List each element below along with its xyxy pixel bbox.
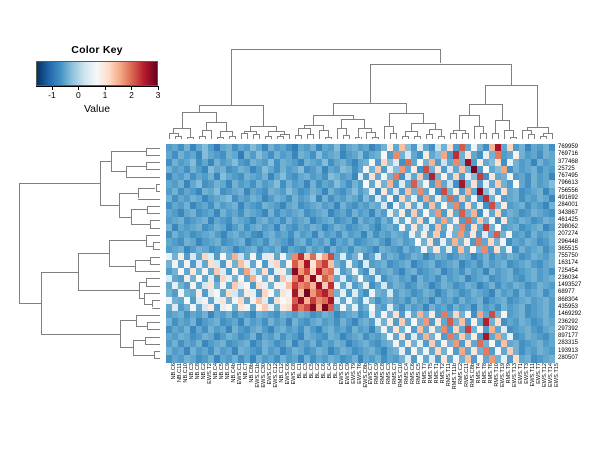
- dendrogram-link: [146, 246, 153, 247]
- dendrogram-link: [154, 358, 160, 359]
- dendrogram-link: [150, 220, 160, 221]
- dendrogram-link: [126, 166, 127, 177]
- column-label: EWS.C2: [267, 363, 273, 384]
- dendrogram-link: [41, 272, 42, 334]
- dendrogram-link: [429, 129, 441, 130]
- dendrogram-link: [259, 134, 260, 139]
- dendrogram-link: [169, 133, 170, 139]
- dendrogram-link: [147, 206, 160, 207]
- dendrogram-link: [178, 133, 179, 136]
- dendrogram-link: [146, 235, 160, 236]
- column-label: BL.C2: [315, 363, 321, 379]
- dendrogram-link: [389, 113, 423, 114]
- dendrogram-link: [19, 183, 20, 303]
- dendrogram-link: [135, 260, 150, 261]
- dendrogram-link: [241, 133, 242, 139]
- dendrogram-link: [298, 128, 310, 129]
- dendrogram-link: [120, 347, 133, 348]
- dendrogram-link: [119, 193, 120, 217]
- row-label: 767495: [558, 173, 578, 180]
- dendrogram-link: [510, 137, 511, 139]
- dendrogram-link: [147, 213, 160, 214]
- column-label: EWS.C30: [261, 363, 267, 388]
- dendrogram-link: [136, 326, 147, 327]
- dendrogram-link: [474, 126, 483, 127]
- dendrogram-link: [268, 131, 269, 136]
- column-labels: NB.C6NB.C11NB.C10NB.C3NB.C8NB.C2EWS.T2NB…: [166, 363, 555, 423]
- dendrogram-link: [301, 135, 302, 139]
- dendrogram-link: [78, 290, 139, 291]
- row-label: 868304: [558, 297, 578, 304]
- dendrogram-link: [120, 320, 137, 321]
- column-label: EWS.C1: [237, 363, 243, 384]
- dendrogram-link: [144, 304, 152, 305]
- column-label: BL.C5: [309, 363, 315, 379]
- column-label: EWS.C12: [273, 363, 279, 388]
- dendrogram-link: [263, 105, 264, 127]
- dendrogram-link: [111, 171, 127, 172]
- dendrogram-link: [331, 137, 332, 139]
- row-label: 343867: [558, 210, 578, 217]
- dendrogram-link: [152, 300, 153, 307]
- color-key: Color Key -10123 Value: [33, 44, 161, 120]
- column-label: BL.C6: [321, 363, 327, 379]
- row-label: 1493527: [558, 282, 581, 289]
- dendrogram-link: [390, 133, 391, 139]
- dendrogram-link: [250, 126, 276, 127]
- dendrogram-link: [136, 315, 160, 316]
- row-label: 365515: [558, 246, 578, 253]
- dendrogram-link: [522, 130, 531, 131]
- column-label: EWS.C8: [291, 363, 297, 384]
- row-label: 897177: [558, 333, 578, 340]
- dendrogram-link: [468, 133, 469, 139]
- dendrogram-link: [138, 188, 139, 199]
- dendrogram-link: [310, 128, 311, 134]
- dendrogram-link: [211, 130, 212, 139]
- row-dendrogram: [12, 144, 162, 362]
- dendrogram-link: [456, 133, 457, 139]
- dendrogram-link: [146, 148, 147, 155]
- dendrogram-link: [492, 133, 493, 139]
- color-key-axis: -10123: [36, 86, 158, 102]
- dendrogram-link: [19, 183, 100, 184]
- heatmap-cell[interactable]: [549, 355, 555, 363]
- dendrogram-link: [133, 340, 145, 341]
- dendrogram-link: [313, 115, 352, 116]
- dendrogram-link: [153, 242, 154, 249]
- dendrogram-link: [223, 137, 224, 139]
- dendrogram-link: [276, 126, 277, 131]
- dendrogram-link: [100, 161, 101, 205]
- dendrogram-link: [206, 122, 207, 130]
- dendrogram-link: [154, 351, 155, 358]
- dendrogram-link: [337, 128, 346, 129]
- dendrogram-link: [41, 334, 120, 335]
- dendrogram-link: [147, 322, 148, 329]
- dendrogram-link: [126, 166, 146, 167]
- dendrogram-link: [244, 131, 245, 133]
- dendrogram-link: [78, 253, 109, 254]
- dendrogram-link: [247, 133, 248, 139]
- column-label: BL.C8: [333, 363, 339, 379]
- color-key-value-label: Value: [33, 103, 161, 115]
- dendrogram-link: [187, 137, 188, 139]
- dendrogram-link: [495, 120, 508, 121]
- dendrogram-link: [231, 49, 441, 50]
- dendrogram-link: [485, 85, 486, 103]
- dendrogram-link: [405, 131, 417, 132]
- row-label: 435953: [558, 304, 578, 311]
- dendrogram-link: [169, 133, 178, 134]
- row-label: 284001: [558, 202, 578, 209]
- dendrogram-link: [78, 253, 79, 290]
- dendrogram-link: [205, 136, 206, 139]
- dendrogram-link: [100, 161, 111, 162]
- dendrogram-link: [411, 123, 412, 132]
- dendrogram-link: [131, 224, 150, 225]
- row-label: 236292: [558, 319, 578, 326]
- dendrogram-link: [337, 128, 338, 139]
- dendrogram-link: [265, 136, 266, 139]
- row-label: 297392: [558, 326, 578, 333]
- row-label: 796613: [558, 180, 578, 187]
- dendrogram-link: [231, 49, 232, 105]
- row-label: 207274: [558, 231, 578, 238]
- dendrogram-link: [552, 133, 553, 139]
- dendrogram-link: [411, 123, 435, 124]
- dendrogram-link: [486, 133, 487, 139]
- row-label: 68977: [558, 289, 575, 296]
- dendrogram-link: [408, 136, 409, 139]
- dendrogram-link: [543, 133, 552, 134]
- row-label: 283315: [558, 340, 578, 347]
- column-label: EWS.C9: [345, 363, 351, 384]
- column-label: NB.C4b: [231, 363, 237, 383]
- dendrogram-link: [349, 135, 350, 139]
- dendrogram-link: [217, 137, 218, 139]
- row-label: 725454: [558, 268, 578, 275]
- dendrogram-link: [146, 169, 160, 170]
- dendrogram-link: [156, 191, 160, 192]
- dendrogram-link: [154, 351, 160, 352]
- dendrogram-link: [384, 126, 385, 139]
- column-label: NB.C5: [219, 363, 225, 379]
- dendrogram-link: [540, 136, 541, 139]
- dendrogram-link: [256, 131, 257, 134]
- dendrogram-link: [328, 130, 329, 137]
- dendrogram-link: [504, 130, 505, 139]
- dendrogram-link: [502, 104, 503, 121]
- dendrogram-link: [444, 136, 445, 139]
- dendrogram-link: [146, 162, 147, 169]
- dendrogram-link: [271, 136, 272, 139]
- dendrogram-link: [483, 126, 484, 133]
- column-label: EWS.C5: [339, 363, 345, 384]
- dendrogram-link: [511, 64, 512, 86]
- dendrogram-link: [147, 206, 148, 213]
- dendrogram-link: [353, 115, 354, 119]
- dendrogram-link: [527, 127, 548, 128]
- dendrogram-link: [153, 242, 160, 243]
- dendrogram-link: [333, 103, 334, 115]
- column-label: EWS.T6: [357, 363, 363, 384]
- dendrogram-link: [479, 115, 480, 126]
- dendrogram-link: [462, 133, 463, 139]
- dendrogram-link: [216, 112, 217, 121]
- dendrogram-link: [298, 128, 299, 136]
- row-label: 280507: [558, 355, 578, 362]
- color-key-axis-line: [36, 86, 158, 87]
- dendrogram-link: [289, 134, 290, 139]
- dendrogram-link: [136, 315, 137, 326]
- dendrogram-link: [283, 136, 284, 139]
- color-key-tick-label: 2: [129, 90, 134, 100]
- column-label: NB.C9: [225, 363, 231, 379]
- dendrogram-link: [429, 129, 430, 134]
- color-key-tick-label: 1: [103, 90, 108, 100]
- dendrogram-link: [226, 122, 227, 131]
- dendrogram-link: [173, 128, 174, 133]
- dendrogram-link: [522, 130, 523, 139]
- dendrogram-link: [182, 112, 183, 128]
- dendrogram-link: [485, 85, 537, 86]
- dendrogram-link: [528, 134, 529, 139]
- dendrogram-link: [150, 257, 160, 258]
- dendrogram-link: [244, 131, 256, 132]
- dendrogram-link: [131, 209, 147, 210]
- dendrogram-link: [516, 137, 517, 139]
- color-key-title: Color Key: [33, 44, 161, 56]
- column-label: NB.C8b: [249, 363, 255, 383]
- dendrogram-link: [406, 103, 407, 113]
- dendrogram-link: [146, 162, 160, 163]
- dendrogram-link: [453, 130, 465, 131]
- row-label: 756556: [558, 188, 578, 195]
- dendrogram-link: [280, 134, 281, 136]
- dendrogram-link: [333, 103, 406, 104]
- color-key-tick-label: -1: [48, 90, 56, 100]
- dendrogram-link: [480, 133, 481, 139]
- row-label: 1469292: [558, 311, 581, 318]
- dendrogram-link: [131, 209, 132, 224]
- dendrogram-link: [135, 271, 160, 272]
- dendrogram-link: [319, 130, 328, 131]
- dendrogram-link: [139, 282, 140, 298]
- dendrogram-link: [235, 136, 236, 139]
- dendrogram-link: [19, 303, 41, 304]
- dendrogram-link: [120, 320, 121, 347]
- dendrogram-link: [232, 131, 233, 136]
- dendrogram-link: [313, 115, 314, 125]
- color-key-gradient-bar: [36, 61, 158, 86]
- column-label: NB.C4: [213, 363, 219, 379]
- dendrogram-link: [146, 278, 147, 285]
- dendrogram-link: [150, 220, 151, 227]
- dendrogram-link: [146, 148, 160, 149]
- dendrogram-link: [531, 130, 532, 134]
- dendrogram-link: [145, 337, 160, 338]
- dendrogram-link: [405, 131, 406, 135]
- dendrogram-link: [364, 119, 365, 127]
- dendrogram-link: [509, 120, 510, 130]
- dendrogram-link: [150, 257, 151, 264]
- dendrogram-link: [323, 125, 324, 130]
- dendrogram-link: [537, 85, 538, 127]
- column-label: NB.C12: [279, 363, 285, 383]
- dendrogram-link: [304, 125, 305, 128]
- dendrogram-link: [459, 115, 460, 130]
- dendrogram-link: [361, 137, 362, 139]
- dendrogram-link: [138, 199, 160, 200]
- dendrogram-link: [150, 264, 160, 265]
- dendrogram-link: [250, 126, 251, 131]
- dendrogram-link: [341, 119, 364, 120]
- row-labels: 7699597697163774682572576749579661375655…: [558, 144, 600, 362]
- dendrogram-link: [543, 133, 544, 136]
- dendrogram-link: [109, 240, 110, 265]
- dendrogram-link: [453, 130, 454, 133]
- heatmap-grid[interactable]: [166, 144, 555, 362]
- dendrogram-link: [307, 134, 308, 139]
- dendrogram-link: [119, 193, 138, 194]
- dendrogram-link: [153, 249, 160, 250]
- row-label: 491692: [558, 195, 578, 202]
- dendrogram-link: [441, 129, 442, 136]
- dendrogram-link: [119, 217, 132, 218]
- dendrogram-link: [133, 355, 154, 356]
- dendrogram-link: [145, 337, 146, 344]
- dendrogram-link: [145, 344, 160, 345]
- dendrogram-link: [371, 128, 372, 133]
- dendrogram-link: [109, 266, 135, 267]
- row-label: 298062: [558, 224, 578, 231]
- dendrogram-link: [147, 322, 160, 323]
- dendrogram-link: [284, 131, 285, 134]
- dendrogram-link: [295, 135, 296, 139]
- dendrogram-link: [144, 293, 145, 304]
- dendrogram-link: [372, 137, 373, 139]
- row-label: 193913: [558, 348, 578, 355]
- dendrogram-link: [146, 278, 160, 279]
- dendrogram-link: [41, 272, 78, 273]
- dendrogram-link: [435, 123, 436, 130]
- row-label: 755750: [558, 253, 578, 260]
- dendrogram-link: [548, 127, 549, 133]
- dendrogram-link: [150, 228, 160, 229]
- dendrogram-link: [277, 136, 278, 139]
- dendrogram-link: [440, 49, 441, 64]
- dendrogram-link: [396, 133, 397, 139]
- dendrogram-link: [417, 131, 418, 136]
- dendrogram-link: [199, 105, 263, 106]
- column-label: EWS.T9: [351, 363, 357, 384]
- row-label: 296448: [558, 239, 578, 246]
- dendrogram-link: [513, 130, 514, 137]
- dendrogram-link: [420, 136, 421, 139]
- row-label: 461425: [558, 217, 578, 224]
- dendrogram-link: [193, 137, 194, 139]
- row-label: 377468: [558, 159, 578, 166]
- column-label: BL.C3: [303, 363, 309, 379]
- dendrogram-link: [534, 134, 535, 139]
- dendrogram-link: [146, 235, 147, 246]
- dendrogram-link: [402, 136, 403, 139]
- dendrogram-link: [527, 127, 528, 130]
- column-label: NB.C7: [243, 363, 249, 379]
- column-label: BL.C4: [327, 363, 333, 379]
- dendrogram-link: [370, 64, 512, 65]
- dendrogram-link: [546, 136, 547, 139]
- dendrogram-link: [375, 132, 376, 137]
- dendrogram-link: [313, 134, 314, 139]
- dendrogram-link: [133, 340, 134, 355]
- dendrogram-link: [325, 137, 326, 139]
- dendrogram-link: [206, 122, 225, 123]
- dendrogram-link: [202, 130, 211, 131]
- dendrogram-link: [438, 136, 439, 139]
- dendrogram-link: [393, 126, 394, 133]
- dendrogram-link: [465, 130, 466, 134]
- dendrogram-link: [126, 177, 160, 178]
- dendrogram-link: [111, 151, 112, 171]
- dendrogram-link: [341, 119, 342, 128]
- dendrogram-link: [319, 130, 320, 139]
- dendrogram-link: [109, 240, 146, 241]
- dendrogram-link: [152, 300, 160, 301]
- dendrogram-link: [498, 133, 499, 139]
- dendrogram-link: [474, 126, 475, 139]
- column-label: EWS.T15: [554, 363, 560, 387]
- dendrogram-link: [147, 329, 160, 330]
- dendrogram-link: [190, 128, 191, 137]
- column-label: EWS.C1b: [255, 363, 261, 388]
- dendrogram-link: [469, 104, 470, 115]
- dendrogram-link: [370, 64, 371, 104]
- row-label: 25725: [558, 166, 575, 173]
- color-key-tick-label: 3: [156, 90, 161, 100]
- column-label: BL.C1: [297, 363, 303, 379]
- dendrogram-link: [469, 104, 502, 105]
- dendrogram-link: [146, 286, 160, 287]
- dendrogram-link: [181, 136, 182, 139]
- dendrogram-link: [111, 151, 147, 152]
- dendrogram-link: [152, 308, 160, 309]
- dendrogram-link: [495, 120, 496, 133]
- dendrogram-link: [384, 126, 393, 127]
- dendrogram-link: [220, 131, 232, 132]
- row-label: 236034: [558, 275, 578, 282]
- dendrogram-link: [358, 128, 359, 137]
- dendrogram-link: [146, 155, 160, 156]
- dendrogram-link: [253, 134, 254, 139]
- dendrogram-link: [426, 134, 427, 139]
- dendrogram-link: [268, 131, 284, 132]
- dendrogram-link: [450, 133, 451, 139]
- row-label: 163174: [558, 260, 578, 267]
- column-label: EWS.T2: [207, 363, 213, 384]
- dendrogram-link: [199, 105, 200, 113]
- dendrogram-link: [346, 128, 347, 134]
- dendrogram-link: [156, 184, 160, 185]
- dendrogram-link: [366, 132, 375, 133]
- dendrogram-link: [135, 260, 136, 271]
- heatmap-figure: Color Key -10123 Value 76995976971637746…: [0, 0, 600, 450]
- dendrogram-link: [366, 132, 367, 139]
- dendrogram-link: [280, 134, 289, 135]
- dendrogram-link: [378, 137, 379, 139]
- row-label: 769716: [558, 151, 578, 158]
